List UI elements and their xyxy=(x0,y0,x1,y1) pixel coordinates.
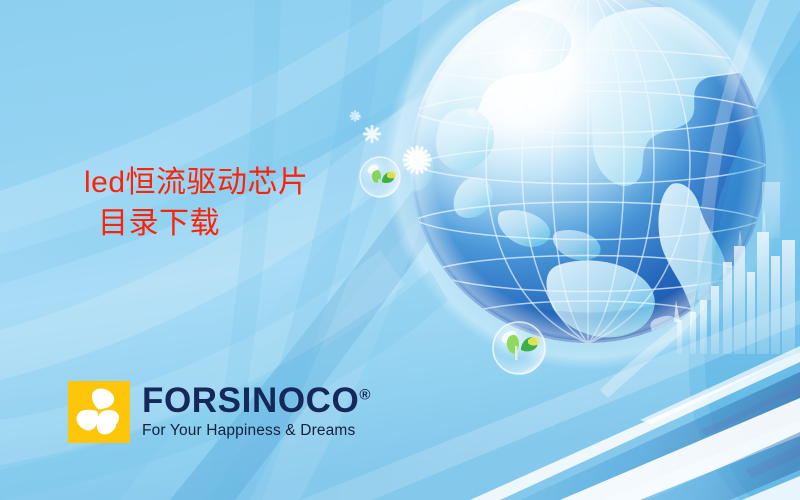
sparkle-asterisk-icon xyxy=(404,147,430,173)
soap-bubble-icon xyxy=(493,322,545,374)
brand-logo: FORSINOCO® For Your Happiness & Dreams xyxy=(68,381,370,443)
headline-text: led恒流驱动芯片 目录下载 xyxy=(84,163,309,245)
soap-bubble-icon xyxy=(467,107,477,117)
headline-line-1-latin: led xyxy=(84,166,126,199)
banner-image: led恒流驱动芯片 目录下载 FORSINOCO® For Your Happi… xyxy=(0,0,800,500)
logo-mark xyxy=(68,381,130,443)
headline-line-1: led恒流驱动芯片 xyxy=(84,163,309,204)
logo-tagline: For Your Happiness & Dreams xyxy=(142,422,370,439)
registered-trademark-icon: ® xyxy=(359,386,370,403)
headline-line-2: 目录下载 xyxy=(98,204,309,245)
headline-line-1-cjk: 恒流驱动芯片 xyxy=(126,165,309,200)
logo-wordmark-text: FORSINOCO xyxy=(142,381,359,420)
sparkle-asterisk-icon xyxy=(364,126,380,142)
soap-bubble-icon xyxy=(355,114,361,120)
four-petal-pinwheel-icon xyxy=(68,381,130,443)
logo-text-block: FORSINOCO® For Your Happiness & Dreams xyxy=(142,381,370,439)
soap-bubble-icon xyxy=(360,157,400,197)
logo-wordmark: FORSINOCO® xyxy=(142,383,370,418)
